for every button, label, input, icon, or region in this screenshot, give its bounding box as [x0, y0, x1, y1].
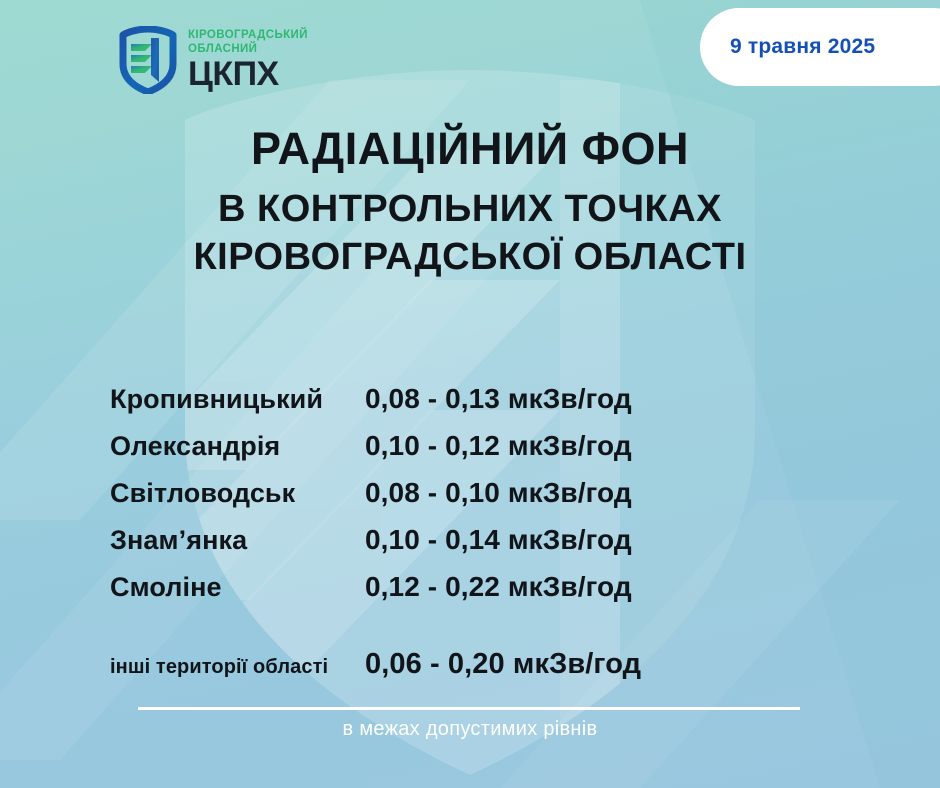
dose-rate-value: 0,10 - 0,14 мкЗв/год	[365, 524, 632, 556]
table-row: Кропивницький 0,08 - 0,13 мкЗв/год	[0, 383, 940, 430]
dose-rate-value: 0,08 - 0,13 мкЗв/год	[365, 383, 632, 415]
location-name: Кропивницький	[0, 384, 365, 415]
footer-divider	[138, 707, 800, 710]
logo-superline: КІРОВОГРАДСЬКИЙ ОБЛАСНИЙ	[188, 29, 308, 56]
dose-rate-value: 0,12 - 0,22 мкЗв/год	[365, 571, 632, 603]
shield-logo-icon	[118, 26, 178, 94]
table-row: Знам’янка 0,10 - 0,14 мкЗв/год	[0, 524, 940, 571]
title-line-3: КІРОВОГРАДСЬКОЇ ОБЛАСТІ	[0, 237, 940, 277]
table-row: Світловодськ 0,08 - 0,10 мкЗв/год	[0, 477, 940, 524]
location-name: Олександрія	[0, 431, 365, 462]
readings-list: Кропивницький 0,08 - 0,13 мкЗв/год Олекс…	[0, 383, 940, 698]
table-row: Смоліне 0,12 - 0,22 мкЗв/год	[0, 571, 940, 618]
date-badge: 9 травня 2025	[700, 8, 940, 86]
dose-rate-value: 0,10 - 0,12 мкЗв/год	[365, 430, 632, 462]
footer-note: в межах допустимих рівнів	[0, 718, 940, 741]
logo-wordmark: КІРОВОГРАДСЬКИЙ ОБЛАСНИЙ ЦКПХ	[188, 29, 308, 90]
page-title: РАДІАЦІЙНИЙ ФОН В КОНТРОЛЬНИХ ТОЧКАХ КІР…	[0, 126, 940, 277]
title-line-2: В КОНТРОЛЬНИХ ТОЧКАХ	[0, 189, 940, 229]
other-territories-label: інші території області	[0, 656, 365, 679]
table-row-other-territories: інші території області 0,06 - 0,20 мкЗв/…	[0, 648, 940, 698]
location-name: Світловодськ	[0, 478, 365, 509]
table-row: Олександрія 0,10 - 0,12 мкЗв/год	[0, 430, 940, 477]
organization-logo: КІРОВОГРАДСЬКИЙ ОБЛАСНИЙ ЦКПХ	[118, 26, 308, 94]
location-name: Знам’янка	[0, 525, 365, 556]
dose-rate-value: 0,08 - 0,10 мкЗв/год	[365, 477, 632, 509]
title-line-1: РАДІАЦІЙНИЙ ФОН	[0, 126, 940, 173]
other-territories-value: 0,06 - 0,20 мкЗв/год	[365, 648, 641, 681]
logo-abbreviation: ЦКПХ	[188, 58, 308, 90]
date-badge-label: 9 травня 2025	[730, 35, 875, 59]
radiation-background-poster: КІРОВОГРАДСЬКИЙ ОБЛАСНИЙ ЦКПХ 9 травня 2…	[0, 0, 940, 788]
location-name: Смоліне	[0, 572, 365, 603]
